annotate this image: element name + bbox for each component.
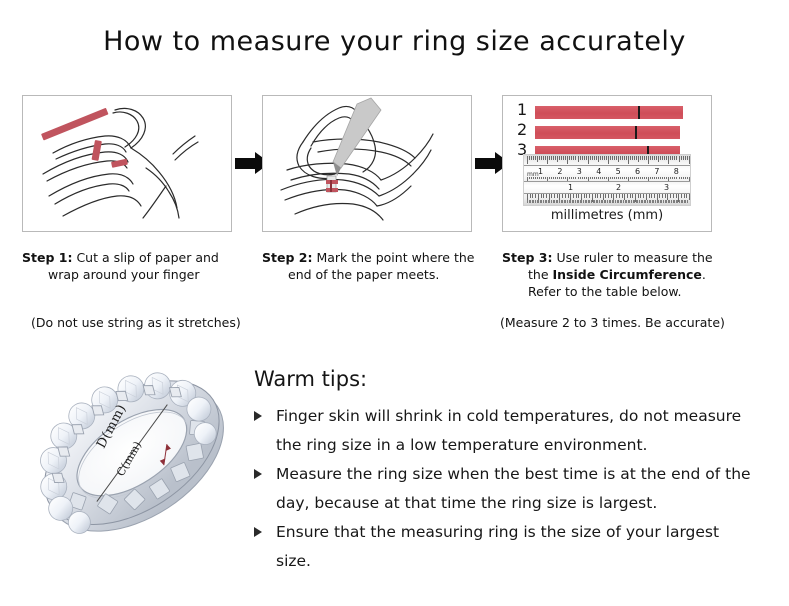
ruler-tick	[687, 200, 688, 203]
ruler-tick	[557, 194, 558, 198]
ruler-tick	[608, 194, 609, 198]
step-1-illustration-panel	[22, 95, 232, 232]
ruler-tick	[676, 194, 677, 198]
ruler-tick	[600, 156, 601, 160]
ruler-tick	[681, 177, 682, 179]
ruler-tick	[654, 177, 655, 179]
ruler-tick	[622, 156, 623, 160]
ruler-tick	[571, 177, 572, 179]
ruler-tick	[595, 194, 596, 198]
ruler-tick	[672, 177, 673, 179]
ruler-tick	[600, 177, 601, 179]
ruler-tick	[608, 156, 609, 164]
ruler-tick	[638, 156, 639, 162]
ruler-tick	[582, 177, 583, 179]
ruler-tick	[652, 156, 653, 160]
ruler-tick	[624, 177, 625, 179]
ruler-caption: millimetres (mm)	[503, 208, 711, 223]
ruler-tick	[596, 156, 597, 160]
strip-bar	[535, 106, 683, 119]
ruler-tick	[660, 156, 661, 160]
ruler-tick	[646, 177, 647, 179]
ruler-tick	[630, 156, 631, 160]
ruler-tick	[567, 156, 568, 164]
ruler-tick	[683, 156, 684, 160]
ruler-tick	[673, 194, 674, 198]
ruler-tick	[549, 177, 550, 179]
ruler-tick	[644, 177, 645, 179]
ruler-tick	[567, 177, 568, 181]
ruler-tick	[619, 194, 620, 198]
ruler-tick	[650, 177, 651, 179]
ruler-tick	[642, 156, 643, 160]
strip-number: 2	[517, 122, 533, 137]
ruler-tick	[588, 177, 589, 181]
ruler-tick	[535, 156, 536, 160]
ruler-number: 4	[596, 168, 601, 176]
ruler-tick	[580, 156, 581, 160]
ruler-tick	[539, 156, 540, 160]
ruler-tick	[597, 194, 598, 198]
ruler-tick	[616, 194, 617, 198]
ruler-tick	[592, 156, 593, 160]
ruler-tick	[685, 177, 686, 179]
ruler-tick	[573, 177, 574, 179]
ruler-tick	[604, 156, 605, 160]
ruler-tick	[632, 177, 633, 179]
ruler-tick	[660, 177, 661, 179]
ruler-tick	[626, 177, 627, 179]
ruler-tick	[626, 156, 627, 160]
triangle-bullet-icon	[254, 527, 262, 537]
ruler-tick	[624, 156, 625, 160]
ruler-tick	[616, 156, 617, 160]
ruler-tick	[551, 177, 552, 179]
ruler-tick	[569, 177, 570, 179]
ruler-tick	[632, 156, 633, 160]
ruler-tick	[565, 194, 566, 198]
ruler-tick	[529, 156, 530, 160]
ruler-tick	[642, 177, 643, 179]
ruler-tick	[594, 156, 595, 160]
ruler-tick	[555, 156, 556, 160]
ruler-tick	[640, 177, 641, 179]
ruler-tick	[622, 194, 623, 198]
ruler-tick	[608, 177, 609, 181]
ruler-tick	[554, 194, 555, 198]
arrow-shaft	[235, 158, 257, 169]
ruler-tick	[658, 177, 659, 179]
ruler-tick	[543, 156, 544, 160]
ruler-tick	[586, 194, 587, 198]
ruler-tick	[646, 156, 647, 160]
ruler-tick	[584, 194, 585, 198]
ruler-tick	[666, 156, 667, 160]
ruler-tick	[659, 194, 660, 198]
ruler-tick	[555, 177, 556, 179]
ruler-tick	[545, 177, 546, 179]
ruler-tick	[665, 194, 666, 198]
ruler-tick	[557, 156, 558, 162]
ruler-tick	[543, 177, 544, 179]
ruler-graphic: 12345678 123 mm	[523, 154, 691, 206]
ruler-tick	[598, 177, 599, 179]
ruler-tick	[561, 156, 562, 160]
ruler-tick	[652, 177, 653, 179]
ruler-tick	[644, 156, 645, 160]
ruler-tick	[618, 177, 619, 179]
ruler-tick	[541, 194, 542, 198]
tip-text: Ensure that the measuring ring is the si…	[276, 523, 719, 570]
step-1-label: Step 1:	[22, 250, 72, 265]
ruler-tick	[634, 156, 635, 160]
ruler-tick	[648, 156, 649, 164]
ruler-tick	[547, 177, 548, 181]
ruler-tick	[578, 177, 579, 179]
ruler-tick	[650, 156, 651, 160]
ruler-tick	[656, 177, 657, 179]
ruler-tick	[679, 156, 680, 162]
strip-number: 1	[517, 102, 533, 117]
ruler-tick	[551, 194, 552, 198]
ruler-tick	[670, 194, 671, 198]
ruler-tick	[563, 156, 564, 160]
ruler-tick	[568, 194, 569, 198]
ruler-tick	[545, 156, 546, 160]
list-item: Ensure that the measuring ring is the si…	[254, 518, 754, 576]
ruler-tick	[686, 194, 687, 198]
ruler-tick	[636, 156, 637, 160]
ruler-tick	[578, 194, 579, 198]
ruler-tick	[687, 177, 688, 179]
ruler-tick	[622, 177, 623, 179]
ruler-tick	[670, 156, 671, 160]
ruler-tick	[634, 177, 635, 179]
ruler-tick	[582, 156, 583, 160]
ruler-tick	[547, 156, 548, 164]
ruler-tick	[668, 177, 669, 181]
ruler-tick	[546, 194, 547, 198]
tip-text: Finger skin will shrink in cold temperat…	[276, 407, 741, 454]
ruler-tick	[683, 177, 684, 179]
step-2-caption: Step 2: Mark the point where the end of …	[262, 249, 492, 283]
ruler-tick	[689, 177, 690, 181]
ruler-tick	[562, 194, 563, 198]
step-3-caption: Step 3: Use ruler to measure the the Ins…	[502, 249, 742, 300]
ruler-tick	[535, 194, 536, 198]
ruler-tick	[580, 177, 581, 179]
ruler-tick	[638, 194, 639, 198]
ruler-tick	[612, 156, 613, 160]
step-1-line2: wrap around your finger	[22, 266, 252, 283]
step-2-illustration-panel	[262, 95, 472, 232]
ruler-number: 6	[635, 168, 640, 176]
ruler-tick	[573, 194, 574, 198]
ruler-tick	[620, 177, 621, 179]
triangle-bullet-icon	[254, 411, 262, 421]
ruler-tick	[662, 156, 663, 160]
warm-tips-list: Finger skin will shrink in cold temperat…	[254, 402, 754, 576]
step-3-line2-emphasis: Inside Circumference	[553, 267, 702, 282]
ruler-tick	[590, 177, 591, 179]
ruler-tick	[586, 177, 587, 179]
ruler-tick	[606, 177, 607, 179]
ruler-tick	[569, 156, 570, 160]
ruler-tick	[685, 156, 686, 160]
ruler-tick	[559, 177, 560, 179]
ruler-tick	[670, 177, 671, 179]
ruler-tick	[638, 177, 639, 179]
ruler-tick	[614, 177, 615, 179]
ruler-tick	[684, 194, 685, 198]
step-3-note: (Measure 2 to 3 times. Be accurate)	[500, 315, 725, 330]
ruler-tick	[687, 156, 688, 160]
ruler-number: 1	[568, 184, 573, 192]
ruler-tick	[618, 156, 619, 162]
ruler-tick	[662, 194, 663, 198]
ruler-tick	[681, 156, 682, 160]
ruler-tick	[598, 156, 599, 162]
ring-diagram: D(mm) C(mm)	[18, 352, 250, 560]
ruler-tick	[656, 156, 657, 160]
ruler-tick	[594, 177, 595, 179]
step-1-caption: Step 1: Cut a slip of paper and wrap aro…	[22, 249, 252, 283]
ruler-tick	[563, 177, 564, 179]
ruler-tick	[628, 156, 629, 164]
ruler-tick	[689, 194, 690, 200]
ruler-tick	[630, 194, 631, 198]
ruler-tick	[628, 177, 629, 181]
step-2-label: Step 2:	[262, 250, 312, 265]
ruler-number: 2	[557, 168, 562, 176]
ruler-tick	[679, 177, 680, 179]
ruler-tick	[674, 156, 675, 160]
ruler-tick	[648, 177, 649, 181]
ruler-tick	[553, 156, 554, 160]
ruler-tick	[565, 177, 566, 179]
ruler-tick	[578, 156, 579, 162]
ruler-tick	[620, 156, 621, 160]
ruler-number: 8	[674, 168, 679, 176]
ruler-tick	[557, 177, 558, 179]
ruler-tick	[565, 156, 566, 160]
ruler-tick	[681, 194, 682, 198]
step-3-line2: the Inside Circumference.	[502, 266, 742, 283]
ruler-tick	[654, 194, 655, 198]
step-3-illustration-panel: 1 2 3 12345678 123 mm millimetres (mm)	[502, 95, 712, 232]
ruler-tick	[527, 156, 528, 164]
ruler-tick	[576, 194, 577, 198]
ruler-tick	[559, 156, 560, 160]
ruler-number: 3	[664, 184, 669, 192]
ruler-tick	[674, 177, 675, 179]
ruler-tick	[672, 156, 673, 160]
ruler-tick	[592, 177, 593, 179]
ruler-tick	[611, 194, 612, 198]
ruler-tick	[584, 177, 585, 179]
ruler-tick	[600, 194, 601, 198]
ruler-tick	[630, 177, 631, 179]
strip-bar	[535, 126, 680, 139]
ruler-tick	[533, 156, 534, 160]
list-item: Measure the ring size when the best time…	[254, 460, 754, 518]
ruler-tick	[640, 156, 641, 160]
ruler-tick	[539, 177, 540, 179]
ruler-tick	[664, 177, 665, 179]
ruler-tick	[664, 156, 665, 160]
ruler-tick	[636, 177, 637, 179]
ruler-tick	[668, 156, 669, 164]
hand-with-paper-strip-drawing	[23, 96, 229, 229]
step-3-label: Step 3:	[502, 250, 552, 265]
tip-text: Measure the ring size when the best time…	[276, 465, 751, 512]
ruler-tick	[537, 156, 538, 162]
step-3-line1: Use ruler to measure the	[556, 250, 712, 265]
ruler-tick	[589, 194, 590, 198]
ruler-number: 7	[654, 168, 659, 176]
step-2-line1: Mark the point where the	[316, 250, 474, 265]
ruler-tick	[532, 194, 533, 198]
step-3-line2-post: .	[702, 267, 706, 282]
ruler-tick	[640, 194, 641, 198]
ruler-unit-label: mm	[527, 171, 539, 179]
ruler-tick	[571, 156, 572, 160]
ruler-tick	[604, 177, 605, 179]
ruler-tick	[662, 177, 663, 179]
ruler-tick	[689, 156, 690, 164]
ruler-tick	[654, 156, 655, 160]
ruler-tick	[596, 177, 597, 179]
page-title: How to measure your ring size accurately	[0, 26, 789, 57]
ruler-tick	[602, 156, 603, 160]
ruler-tick	[584, 156, 585, 160]
ruler-tick	[676, 156, 677, 160]
ruler-tick	[632, 194, 633, 198]
ruler-tick	[614, 156, 615, 160]
ruler-tick	[551, 156, 552, 160]
ruler-tick	[573, 156, 574, 160]
ruler-tick	[602, 177, 603, 179]
ruler-number: 2	[616, 184, 621, 192]
arrow-shaft	[475, 158, 497, 169]
ruler-tick	[658, 156, 659, 162]
ruler-tick	[575, 156, 576, 160]
ruler-tick	[610, 156, 611, 160]
ruler-tick	[627, 194, 628, 198]
ruler-tick	[531, 156, 532, 160]
ruler-tick	[610, 177, 611, 179]
step-3-line3: Refer to the table below.	[502, 283, 742, 300]
ruler-tick	[605, 194, 606, 198]
ruler-tick	[553, 177, 554, 179]
hand-marking-paper-drawing	[263, 96, 469, 229]
ruler-number: 5	[616, 168, 621, 176]
ruler-tick	[649, 194, 650, 198]
ruler-tick	[590, 156, 591, 160]
strip-measure-mark	[635, 126, 637, 139]
step-1-line1: Cut a slip of paper and	[76, 250, 218, 265]
strip-measure-mark	[638, 106, 640, 119]
ruler-tick	[543, 194, 544, 198]
ruler-tick	[643, 194, 644, 198]
triangle-bullet-icon	[254, 469, 262, 479]
ruler-tick	[541, 156, 542, 160]
ruler-tick	[575, 177, 576, 179]
ruler-tick	[666, 177, 667, 179]
ruler-number: 3	[577, 168, 582, 176]
ruler-tick	[586, 156, 587, 160]
list-item: Finger skin will shrink in cold temperat…	[254, 402, 754, 460]
ruler-tick	[612, 177, 613, 179]
ruler-tick	[616, 177, 617, 179]
warm-tips-heading: Warm tips:	[254, 367, 367, 391]
ruler-tick	[549, 156, 550, 160]
ruler-tick	[530, 194, 531, 198]
step-2-line2: end of the paper meets.	[262, 266, 492, 283]
ruler-tick	[561, 177, 562, 179]
ruler-tick	[676, 177, 677, 179]
step-1-note: (Do not use string as it stretches)	[31, 315, 241, 330]
ruler-tick	[606, 156, 607, 160]
ruler-tick	[588, 156, 589, 164]
step-3-line2-pre: the	[528, 267, 553, 282]
ruler-tick	[651, 194, 652, 198]
ruler-tick	[541, 177, 542, 179]
